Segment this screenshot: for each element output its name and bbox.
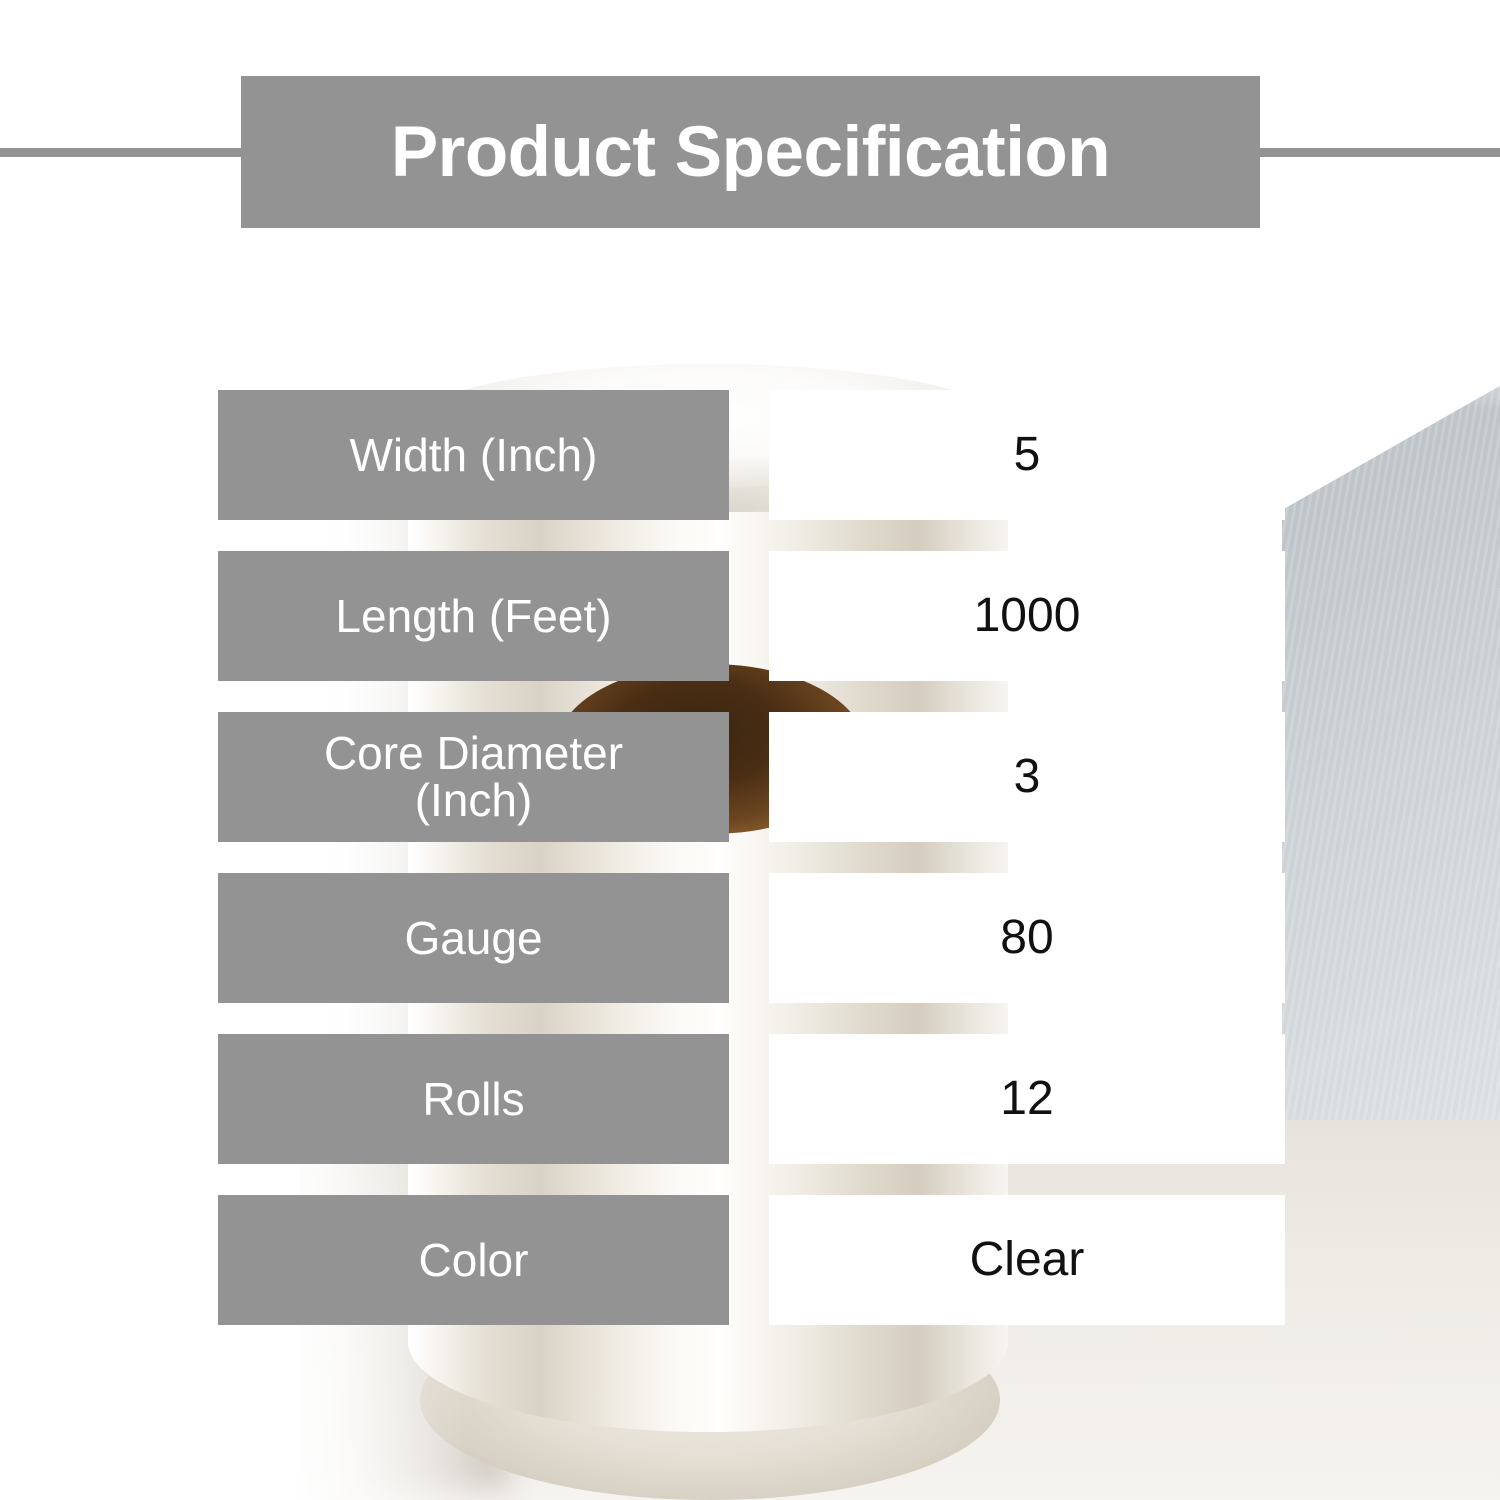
spec-label-length: Length (Feet) [218, 551, 729, 681]
spec-value-width: 5 [769, 390, 1285, 520]
spec-value-gauge: 80 [769, 873, 1285, 1003]
specification-table: Width (Inch) 5 Length (Feet) 1000 Core D… [0, 0, 1500, 1500]
table-row: Width (Inch) 5 [0, 390, 1500, 520]
table-row: Length (Feet) 1000 [0, 551, 1500, 681]
table-row: Core Diameter (Inch) 3 [0, 712, 1500, 842]
table-row: Rolls 12 [0, 1034, 1500, 1164]
spec-value-length: 1000 [769, 551, 1285, 681]
spec-value-core-diameter: 3 [769, 712, 1285, 842]
product-specification-graphic: Product Specification Width (Inch) 5 Len… [0, 0, 1500, 1500]
spec-label-gauge: Gauge [218, 873, 729, 1003]
table-row: Color Clear [0, 1195, 1500, 1325]
spec-value-color: Clear [769, 1195, 1285, 1325]
spec-label-core-diameter: Core Diameter (Inch) [218, 712, 729, 842]
spec-label-rolls: Rolls [218, 1034, 729, 1164]
spec-label-width: Width (Inch) [218, 390, 729, 520]
spec-label-color: Color [218, 1195, 729, 1325]
table-row: Gauge 80 [0, 873, 1500, 1003]
spec-value-rolls: 12 [769, 1034, 1285, 1164]
